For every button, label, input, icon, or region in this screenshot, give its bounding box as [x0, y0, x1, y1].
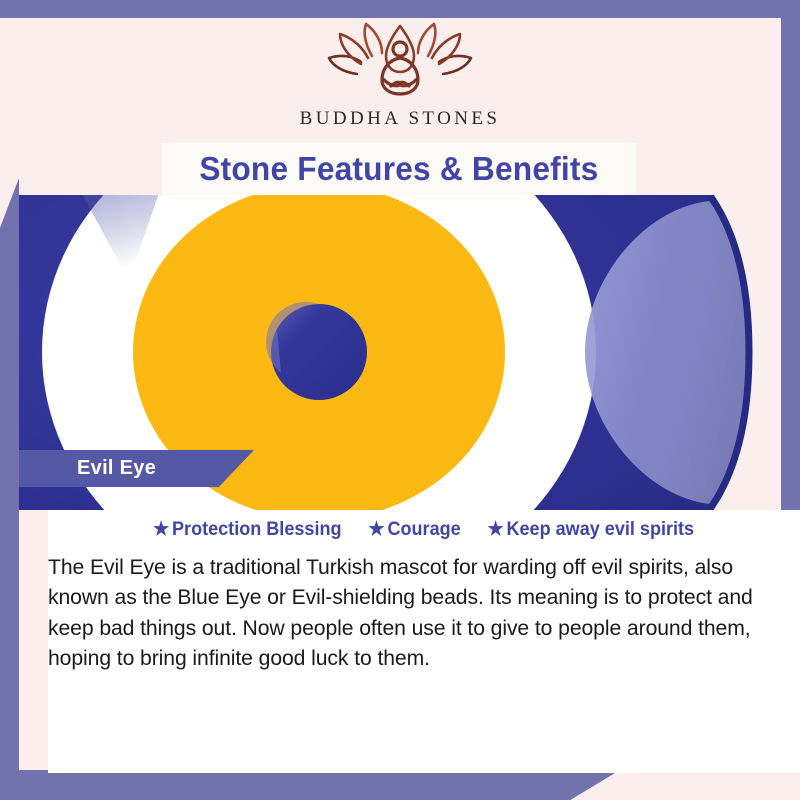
benefit-item-protection-blessing: ★ Protection Blessing	[153, 519, 342, 541]
brand-header: BUDDHA STONES	[0, 0, 800, 143]
title-banner: Stone Features & Benefits	[162, 143, 636, 195]
brand-name: BUDDHA STONES	[300, 108, 501, 130]
poster-canvas: BUDDHA STONES Stone Features & Benefits …	[0, 0, 800, 800]
lotus-meditation-figure-icon	[325, 22, 475, 104]
benefit-label: Protection Blessing	[172, 519, 342, 541]
frame-left-band	[0, 178, 19, 800]
frame-bottom-band	[0, 770, 620, 800]
benefit-item-keep-away-evil-spirits: ★ Keep away evil spirits	[487, 519, 694, 541]
evil-eye-ribbon-label: Evil Eye	[19, 457, 156, 480]
evil-eye-ribbon: Evil Eye	[19, 450, 254, 487]
benefit-item-courage: ★ Courage	[368, 519, 460, 541]
star-icon: ★	[487, 520, 503, 539]
star-icon: ★	[153, 520, 169, 539]
frame-top-band	[0, 0, 800, 18]
benefit-label: Keep away evil spirits	[506, 519, 694, 541]
description-text: The Evil Eye is a traditional Turkish ma…	[48, 552, 789, 673]
star-icon: ★	[368, 520, 384, 539]
benefit-label: Courage	[387, 519, 460, 541]
benefits-row: ★ Protection Blessing ★ Courage ★ Keep a…	[48, 510, 800, 541]
description-panel: ★ Protection Blessing ★ Courage ★ Keep a…	[48, 510, 800, 773]
page-title: Stone Features & Benefits	[199, 150, 598, 188]
